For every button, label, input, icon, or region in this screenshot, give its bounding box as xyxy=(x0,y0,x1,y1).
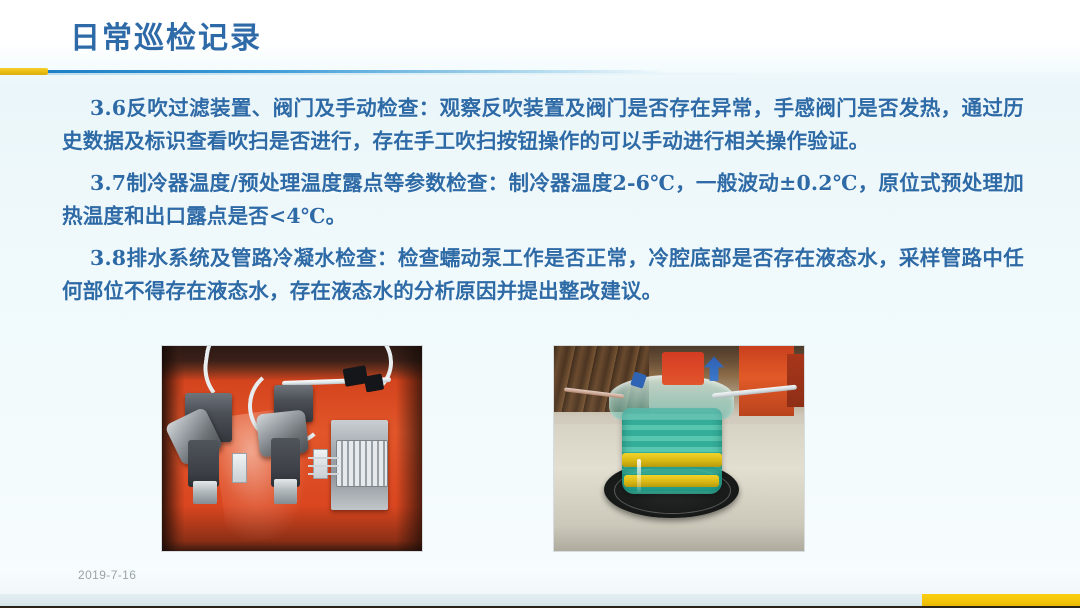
photo-valves-on-orange-panel xyxy=(161,345,423,552)
wire-1 xyxy=(308,457,339,459)
red-component xyxy=(662,352,705,385)
wire-2 xyxy=(308,465,339,467)
slide-header: 日常巡检记录 xyxy=(0,0,1080,72)
photo-row xyxy=(0,345,1080,555)
photo-right-content xyxy=(554,346,804,551)
panel-right-shadow xyxy=(396,346,422,551)
slide-body: 3.6反吹过滤装置、阀门及手动检查：观察反吹装置及阀门是否存在异常，手感阀门是否… xyxy=(62,92,1024,308)
presentation-slide: 日常巡检记录 3.6反吹过滤装置、阀门及手动检查：观察反吹装置及阀门是否存在异常… xyxy=(0,0,1080,608)
slide-date: 2019-7-16 xyxy=(78,567,136,583)
paragraph-3-8: 3.8排水系统及管路冷凝水检查：检查蠕动泵工作是否正常，冷腔底部是否存在液态水，… xyxy=(62,242,1024,308)
tubing-highlight xyxy=(637,459,641,492)
cable-clip-2 xyxy=(364,373,385,392)
valve-fitting-2 xyxy=(274,479,297,504)
divider-blue-line-soft xyxy=(48,73,808,75)
page-title: 日常巡检记录 xyxy=(70,18,262,60)
terminal-block xyxy=(336,440,387,487)
wire-3 xyxy=(308,473,339,475)
photo-peristaltic-pump-head xyxy=(553,345,805,552)
paragraph-3-6: 3.6反吹过滤装置、阀门及手动检查：观察反吹装置及阀门是否存在异常，手感阀门是否… xyxy=(62,92,1024,158)
connector-strip-1 xyxy=(232,453,247,484)
photo-left-content xyxy=(162,346,422,551)
valve-fitting-1 xyxy=(193,481,216,504)
divider-yellow-tab xyxy=(0,68,48,75)
title-divider xyxy=(0,68,1080,76)
orange-cabinet-edge xyxy=(787,354,805,407)
paragraph-3-7: 3.7制冷器温度/预处理温度露点等参数检查：制冷器温度2-6℃，一般波动±0.2… xyxy=(62,167,1024,233)
